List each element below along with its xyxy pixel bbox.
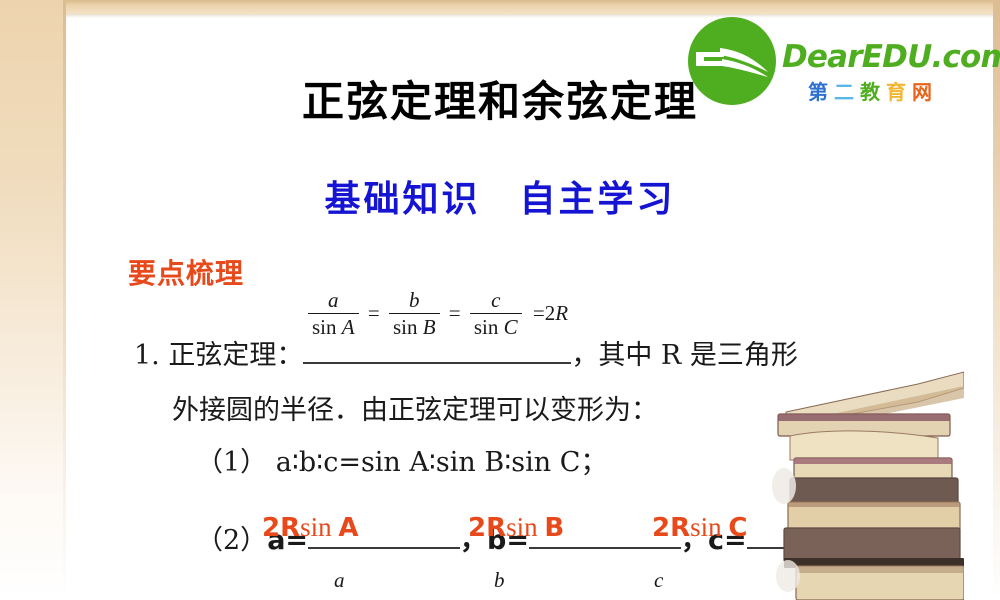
fraction-numerator: a <box>308 288 359 314</box>
book-stack-layers <box>772 372 964 600</box>
equals-sign-2: = <box>447 301 463 326</box>
equals-sign-3: = <box>533 301 545 325</box>
next-formula-var-b: b <box>494 568 505 593</box>
equals-sign-1: = <box>366 301 382 326</box>
answer-blank-1[interactable] <box>303 362 571 364</box>
item-1-suffix: ，其中 R 是三角形 <box>571 340 798 371</box>
slide-canvas: DearEDU.com 第二教育网 正弦定理和余弦定理 基础知识 自主学习 要点… <box>0 0 1000 600</box>
answer-blank-a[interactable] <box>308 547 460 549</box>
fraction-numerator: c <box>470 288 522 314</box>
page-subtitle: 基础知识 自主学习 <box>0 170 1000 222</box>
item-1-sub-1: （1） a∶b∶c=sin A∶sin B∶sin C； <box>196 440 607 479</box>
book-stack-image <box>768 368 964 600</box>
next-formula-var-c: c <box>654 568 663 593</box>
revealed-answer-c: 2Rsin C <box>652 512 747 543</box>
law-of-sines-formula: a sin A = b sin B = c sin C =2R <box>306 288 568 339</box>
fraction-c-sinC: c sin C <box>470 288 522 339</box>
two-R: 2R <box>545 301 568 325</box>
item-1-prefix: 1. 正弦定理： <box>134 340 303 371</box>
revealed-answer-a: 2Rsin A <box>262 512 359 543</box>
revealed-answer-b: 2Rsin B <box>468 512 564 543</box>
fraction-numerator: b <box>389 288 440 314</box>
fraction-a-sinA: a sin A <box>308 288 359 339</box>
item-1-line: 1. 正弦定理：，其中 R 是三角形 <box>134 333 798 372</box>
next-formula-var-a: a <box>334 568 345 593</box>
section-heading: 要点梳理 <box>128 252 244 292</box>
page-title: 正弦定理和余弦定理 <box>0 68 1000 129</box>
item-1-continuation: 外接圆的半径．由正弦定理可以变形为： <box>172 388 658 427</box>
sub-2-label: （2） <box>196 525 267 556</box>
fraction-b-sinB: b sin B <box>389 288 440 339</box>
formula-result: =2R <box>529 301 568 326</box>
answer-blank-b[interactable] <box>529 547 681 549</box>
